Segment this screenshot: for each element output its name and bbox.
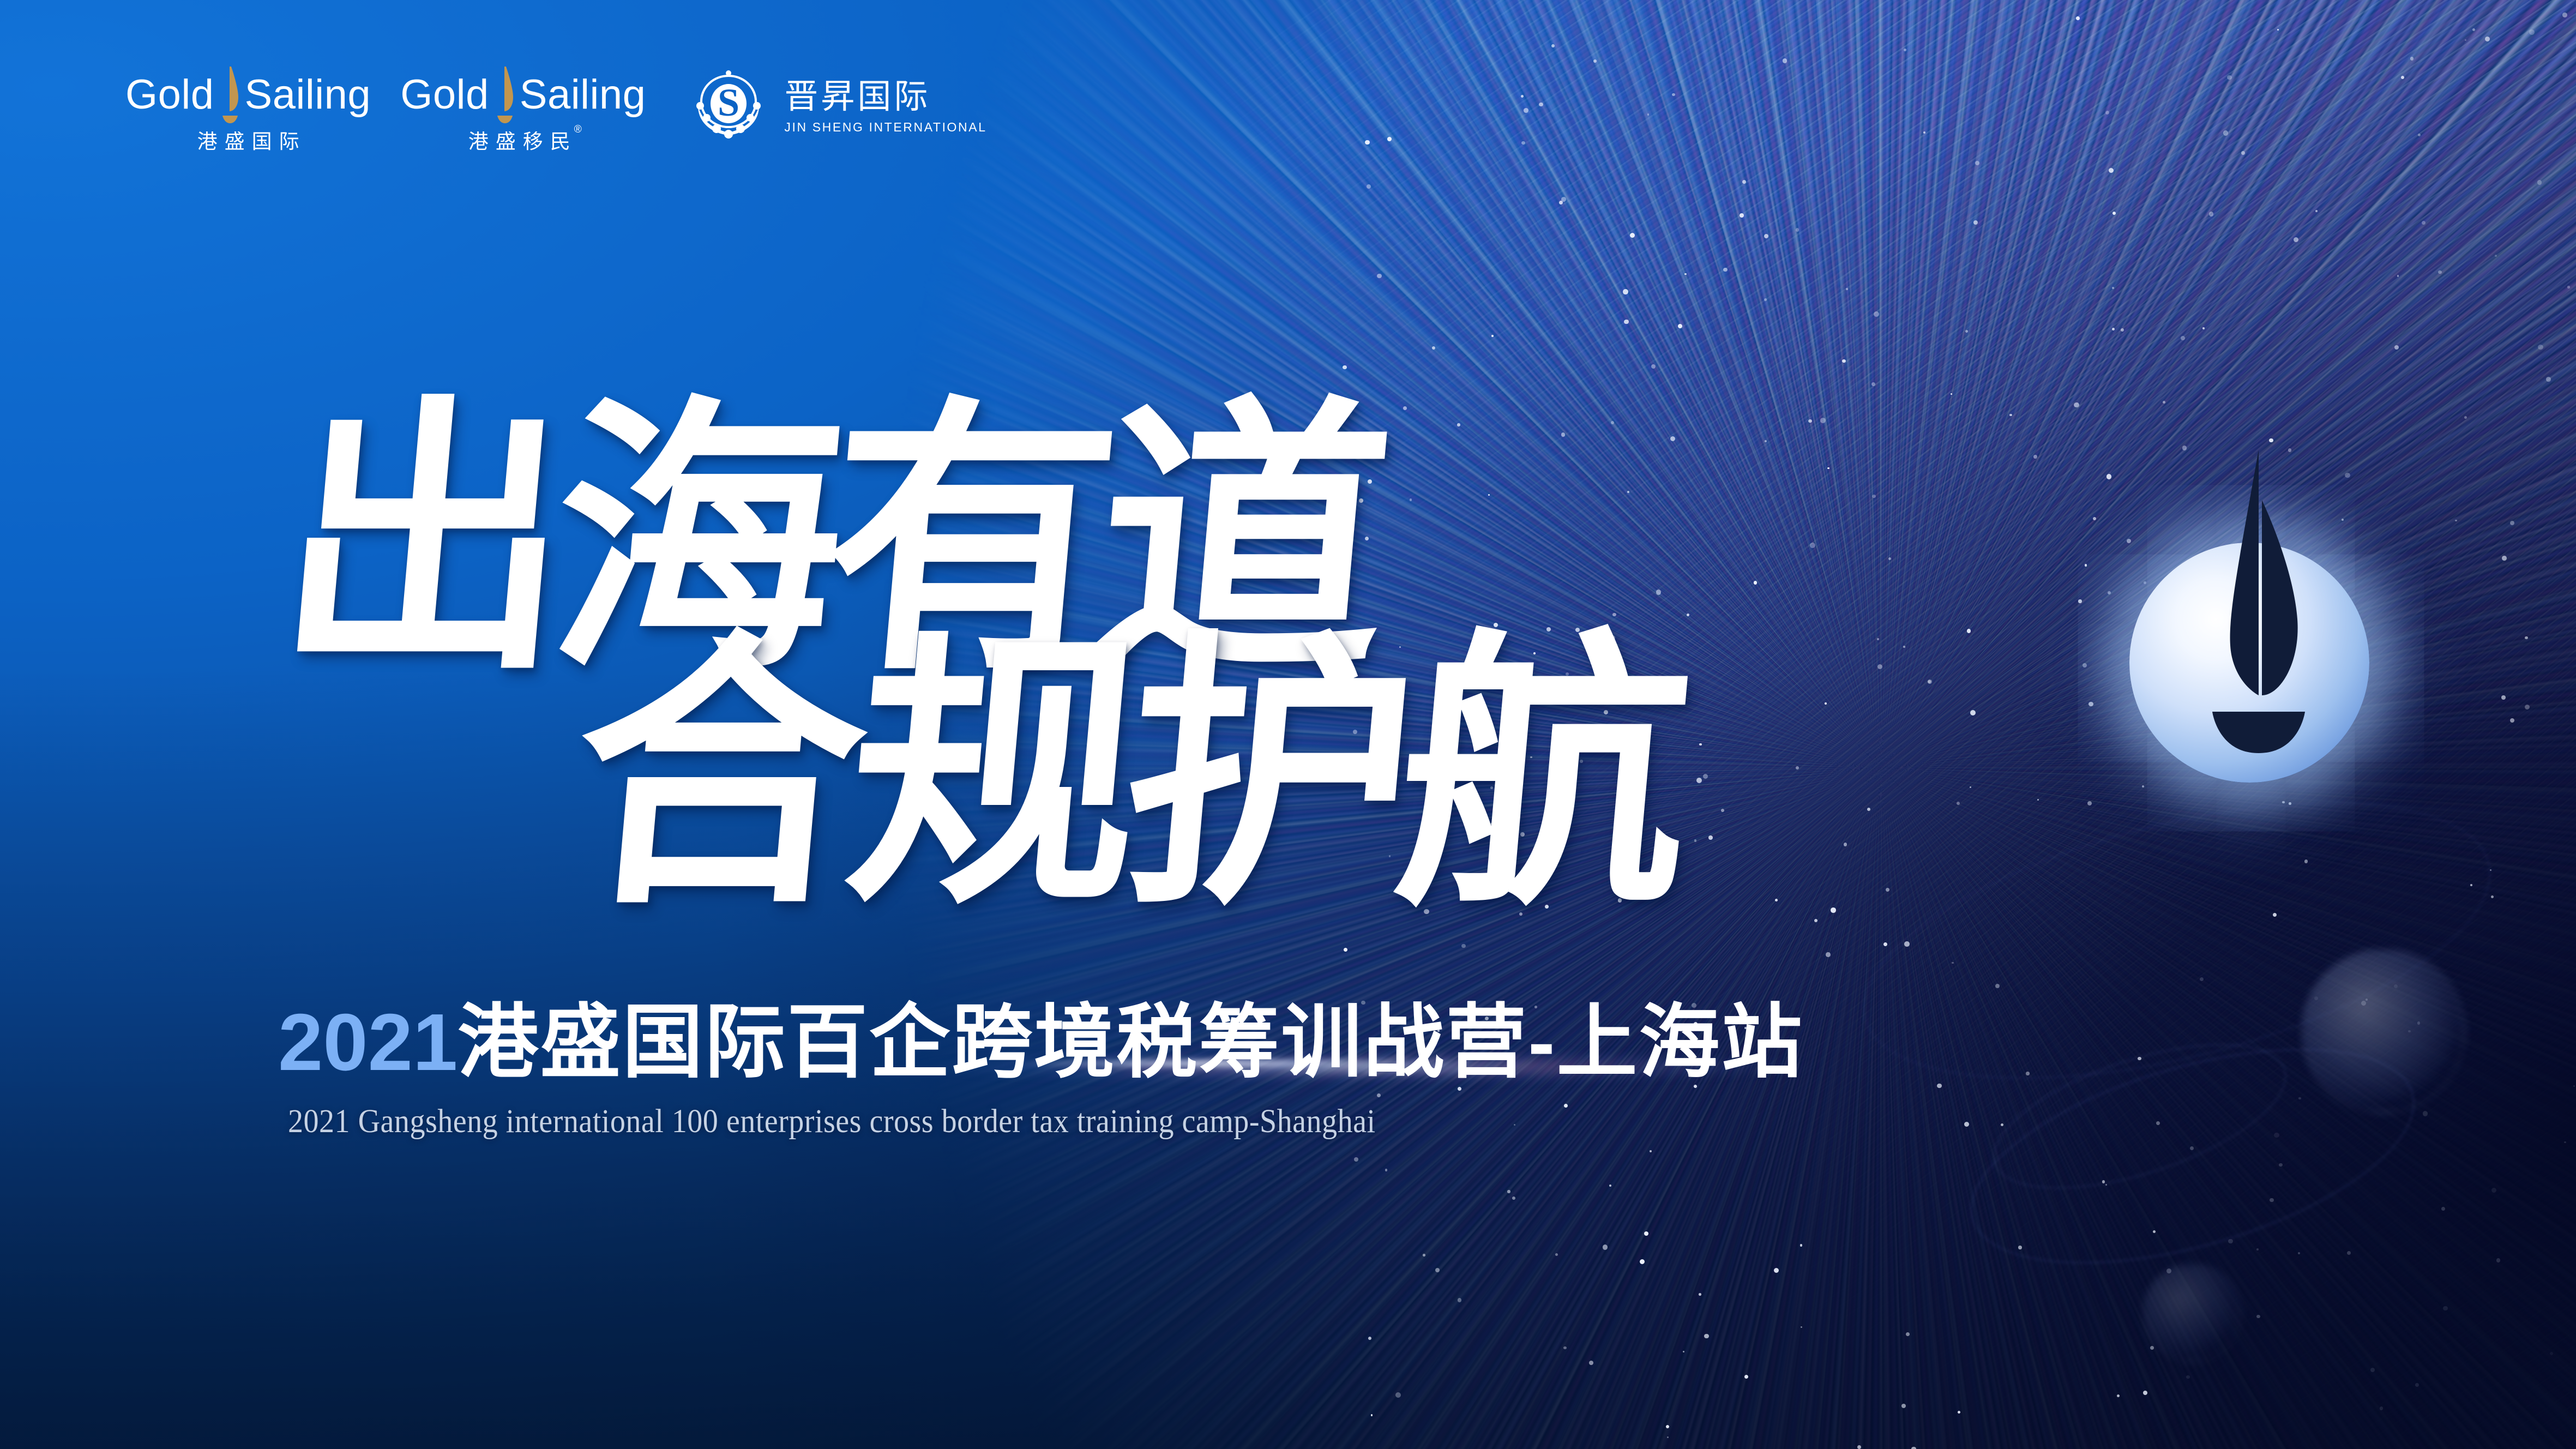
- logo-gold-sailing-immigration[interactable]: Gold Sailing 港盛移民®: [400, 65, 646, 152]
- logo-chinese-name: 港盛移民®: [461, 131, 585, 152]
- logo-word-sailing: Sailing: [245, 74, 371, 116]
- logo-wordmark: Gold Sailing: [400, 65, 646, 124]
- logo-word-sailing: Sailing: [520, 74, 646, 116]
- jinsheng-english-name: JIN SHENG INTERNATIONAL: [784, 120, 986, 135]
- bokeh-sphere: [2302, 949, 2465, 1113]
- subtitle-english: 2021 Gangsheng international 100 enterpr…: [288, 1103, 1376, 1141]
- sail-icon: [492, 65, 517, 124]
- logo-chinese-name: 港盛国际: [190, 131, 306, 152]
- logo-jin-sheng-international[interactable]: S 晋昇国际 JIN SHENG INTERNATIONAL: [687, 65, 986, 148]
- logo-chinese-text: 港盛移民: [468, 130, 577, 153]
- jinsheng-monogram: S: [718, 81, 739, 124]
- logo-word-gold: Gold: [400, 74, 489, 116]
- title-line-2: 合规护航: [559, 540, 1695, 959]
- logo-gold-sailing-international[interactable]: Gold Sailing 港盛国际: [125, 65, 371, 152]
- registered-mark: ®: [574, 124, 582, 135]
- moon-sailboat-graphic: [2129, 543, 2369, 783]
- subtitle-chinese: 2021港盛国际百企跨境税筹训战营-上海站: [278, 1002, 1804, 1083]
- jinsheng-chinese-name: 晋昇国际: [784, 79, 986, 115]
- logo-wordmark: Gold Sailing: [125, 65, 371, 124]
- bokeh-sphere: [2143, 1264, 2241, 1362]
- poster-canvas: Gold Sailing 港盛国际 Gold Sailing 港盛移民®: [0, 0, 2576, 1449]
- jinsheng-text-block: 晋昇国际 JIN SHENG INTERNATIONAL: [784, 79, 986, 135]
- sailboat-icon: [2129, 439, 2369, 793]
- jinsheng-emblem-icon: S: [687, 65, 770, 148]
- logo-word-gold: Gold: [125, 74, 214, 116]
- sail-icon: [218, 65, 243, 124]
- subtitle-chinese-text: 港盛国际百企跨境税筹训战营-上海站: [458, 997, 1803, 1087]
- main-title: 出海有道 合规护航: [0, 305, 1690, 993]
- logo-bar: Gold Sailing 港盛国际 Gold Sailing 港盛移民®: [125, 65, 987, 152]
- subtitle-year: 2021: [278, 997, 458, 1087]
